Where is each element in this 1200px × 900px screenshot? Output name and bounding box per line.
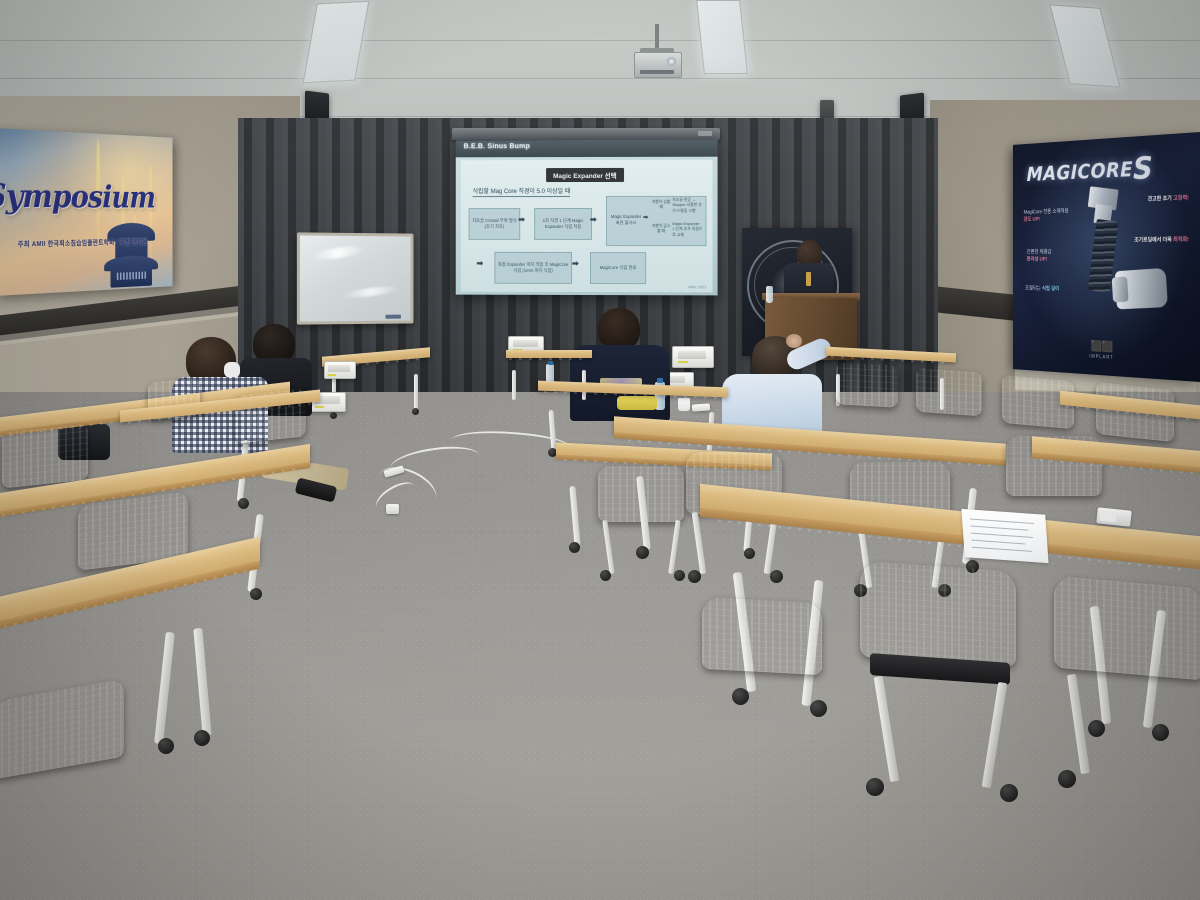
flow-step-1: 치조골 Crestal 부위 절삭 (초기 치조): [469, 208, 521, 240]
water-bottle: [766, 286, 773, 303]
slide-footer: AMII 2023: [688, 284, 706, 289]
flow-arrow: ➡: [572, 260, 579, 268]
implant-motor-unit: [324, 361, 356, 379]
wall-speaker: [820, 100, 834, 120]
brand-suffix: S: [1133, 151, 1153, 187]
branch-result-1: 치조골 천공 → Stopper 사용한 추가 드릴링 시행: [672, 198, 702, 214]
feature-note-left-1: MagiCore 전용 소재적용 강도 UP!: [1024, 208, 1076, 224]
attendee-3-head: [598, 308, 640, 350]
feature-note-right-1: 견고한 초기 고정력!: [1116, 194, 1189, 204]
power-strip: [386, 504, 399, 514]
housing-tab: [698, 131, 712, 136]
light-panel: [696, 0, 748, 74]
symposium-banner: Symposium 주최 AMII 한국최소침습임플란트학회 · 후원 덴티움: [0, 128, 173, 296]
logo-word: IMPLANT: [1089, 354, 1113, 361]
implant-motor-unit: [672, 346, 714, 368]
magicore-banner: MAGICORES MagiCore 전용 소재적용 강도 UP! 견고한 초기…: [1013, 132, 1200, 382]
branch-condition-1: 저항이 심할 때: [651, 200, 671, 211]
smartphone: [1096, 507, 1131, 526]
flow-arrow: ➡: [643, 215, 648, 221]
brand-text: MAGICORE: [1027, 158, 1133, 186]
feature-note-left-3: 조절되는 식립 깊이: [1025, 285, 1081, 294]
flow-arrow: ➡: [518, 216, 525, 224]
projector: [634, 52, 682, 78]
light-panel: [303, 1, 370, 84]
attendee-1-face-mask: [224, 362, 240, 378]
flow-step-5: MagiCore 식립 완료: [590, 252, 646, 284]
slide-header-box: Magic Expander 선택: [546, 168, 624, 182]
slide-body: Magic Expander 선택 식립할 Mag Core 직경이 5.0 이…: [461, 160, 713, 293]
flow-step-3: Magic Expander 회전 불가시: [609, 214, 643, 226]
flow-step-4: 최종 Expander 까지 적용 후 MagiCore 식립 (1mm 까지 …: [494, 252, 572, 284]
whiteboard-marker-tray: [385, 315, 401, 319]
presenter-lanyard: [806, 272, 811, 286]
magicore-brand-title: MAGICORES: [1027, 151, 1154, 191]
feature-note-right-2: 조기로딩에서 더욱 최적화!: [1107, 236, 1189, 245]
slide-subtitle: 식립할 Mag Core 직경이 5.0 이상일 때: [473, 186, 571, 197]
symposium-headline: Symposium: [0, 176, 155, 215]
seminar-room-photo: Symposium 주최 AMII 한국최소침습임플란트학회 · 후원 덴티움 …: [0, 0, 1200, 900]
logo-mark: ⬛⬛: [1089, 340, 1113, 354]
screen-roller-housing: [452, 128, 720, 140]
branch-result-2: Magic Expander 1 단계 추가 직경으로 교체: [672, 222, 702, 238]
slide-title: B.E.B. Sinus Bump: [464, 143, 530, 150]
handout-paper: [961, 509, 1048, 563]
whiteboard: [297, 232, 414, 324]
flow-arrow: ➡: [477, 260, 484, 268]
light-panel: [1049, 4, 1120, 87]
flow-step-2: 1차 직경 1 단계 Magic Expander 식립 적용: [534, 208, 592, 240]
branch-condition-2: 저항이 감소할 때: [651, 224, 671, 235]
flow-arrow: ➡: [590, 216, 597, 224]
brand-logo: ⬛⬛ IMPLANT: [1089, 340, 1113, 361]
projection-screen: B.E.B. Sinus Bump Magic Expander 선택 식립할 …: [456, 140, 718, 296]
attendee-4-hand: [786, 334, 802, 348]
pagoda-windows: [117, 271, 146, 280]
abutment-collar: [1112, 277, 1129, 303]
feature-note-left-2: 간편한 체결감 편리성 UP!: [1027, 249, 1076, 264]
